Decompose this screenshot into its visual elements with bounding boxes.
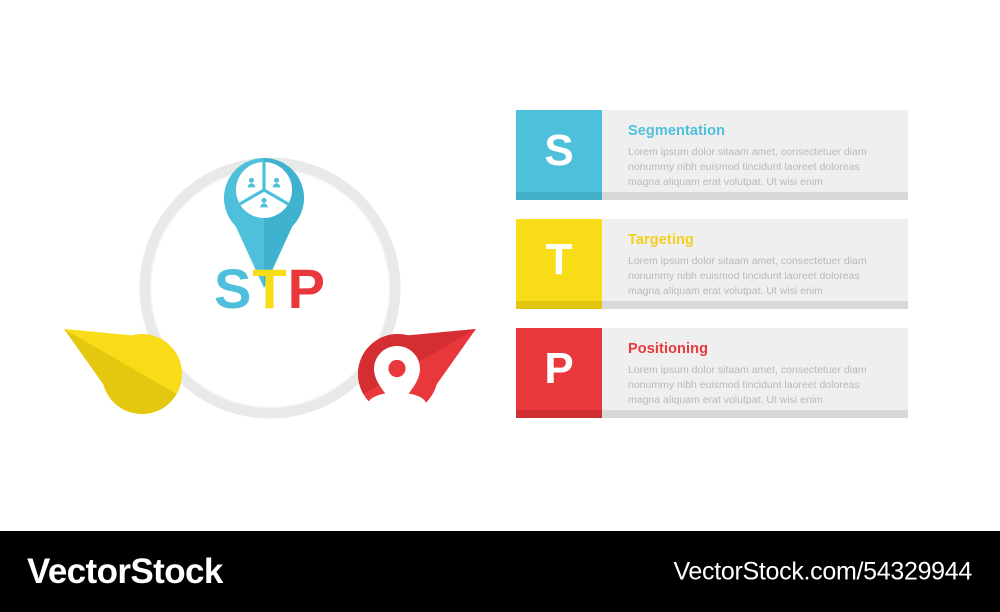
stp-circle-diagram: STP	[60, 80, 480, 450]
card-shadow-letter	[516, 410, 602, 418]
card-description: Lorem ipsum dolor sitaam amet, consectet…	[628, 145, 880, 190]
stp-letter-t: T	[252, 257, 287, 320]
card-shadow	[516, 301, 908, 309]
card-letter-text: T	[546, 238, 573, 282]
card-shadow-letter	[516, 301, 602, 309]
card-title: Targeting	[628, 232, 886, 249]
stp-letter-s: S	[214, 257, 252, 320]
card-shadow	[516, 410, 908, 418]
card-title: Segmentation	[628, 123, 886, 140]
card-body: Segmentation Lorem ipsum dolor sitaam am…	[602, 110, 908, 192]
card-targeting[interactable]: T Targeting Lorem ipsum dolor sitaam ame…	[516, 219, 908, 301]
infographic-canvas: STP S Segmentation Lorem ipsum dolor sit…	[0, 0, 1000, 612]
vectorstock-logo: VectorStock	[27, 552, 223, 592]
stp-card-list: S Segmentation Lorem ipsum dolor sitaam …	[516, 110, 908, 410]
card-shadow-body	[602, 192, 908, 200]
card-letter-badge: P	[516, 328, 602, 410]
card-positioning[interactable]: P Positioning Lorem ipsum dolor sitaam a…	[516, 328, 908, 410]
card-shadow	[516, 192, 908, 200]
card-letter-badge: T	[516, 219, 602, 301]
card-shadow-letter	[516, 192, 602, 200]
stp-letter-p: P	[288, 257, 326, 320]
card-title: Positioning	[628, 341, 886, 358]
watermark-bar: VectorStock VectorStock.com/54329944	[0, 531, 1000, 612]
diagram-node-targeting[interactable]	[60, 294, 197, 428]
card-body: Positioning Lorem ipsum dolor sitaam ame…	[602, 328, 908, 410]
target-dartboard-icon	[173, 413, 223, 450]
card-description: Lorem ipsum dolor sitaam amet, consectet…	[628, 363, 880, 408]
card-description: Lorem ipsum dolor sitaam amet, consectet…	[628, 254, 880, 299]
card-letter-text: S	[544, 129, 573, 173]
card-shadow-body	[602, 301, 908, 309]
card-segmentation[interactable]: S Segmentation Lorem ipsum dolor sitaam …	[516, 110, 908, 192]
pie-chart-people-icon	[236, 162, 292, 218]
card-letter-text: P	[544, 347, 573, 391]
stp-center-label: STP	[214, 257, 326, 320]
card-body: Targeting Lorem ipsum dolor sitaam amet,…	[602, 219, 908, 301]
card-letter-badge: S	[516, 110, 602, 192]
card-shadow-body	[602, 410, 908, 418]
vectorstock-url: VectorStock.com/54329944	[673, 557, 972, 586]
